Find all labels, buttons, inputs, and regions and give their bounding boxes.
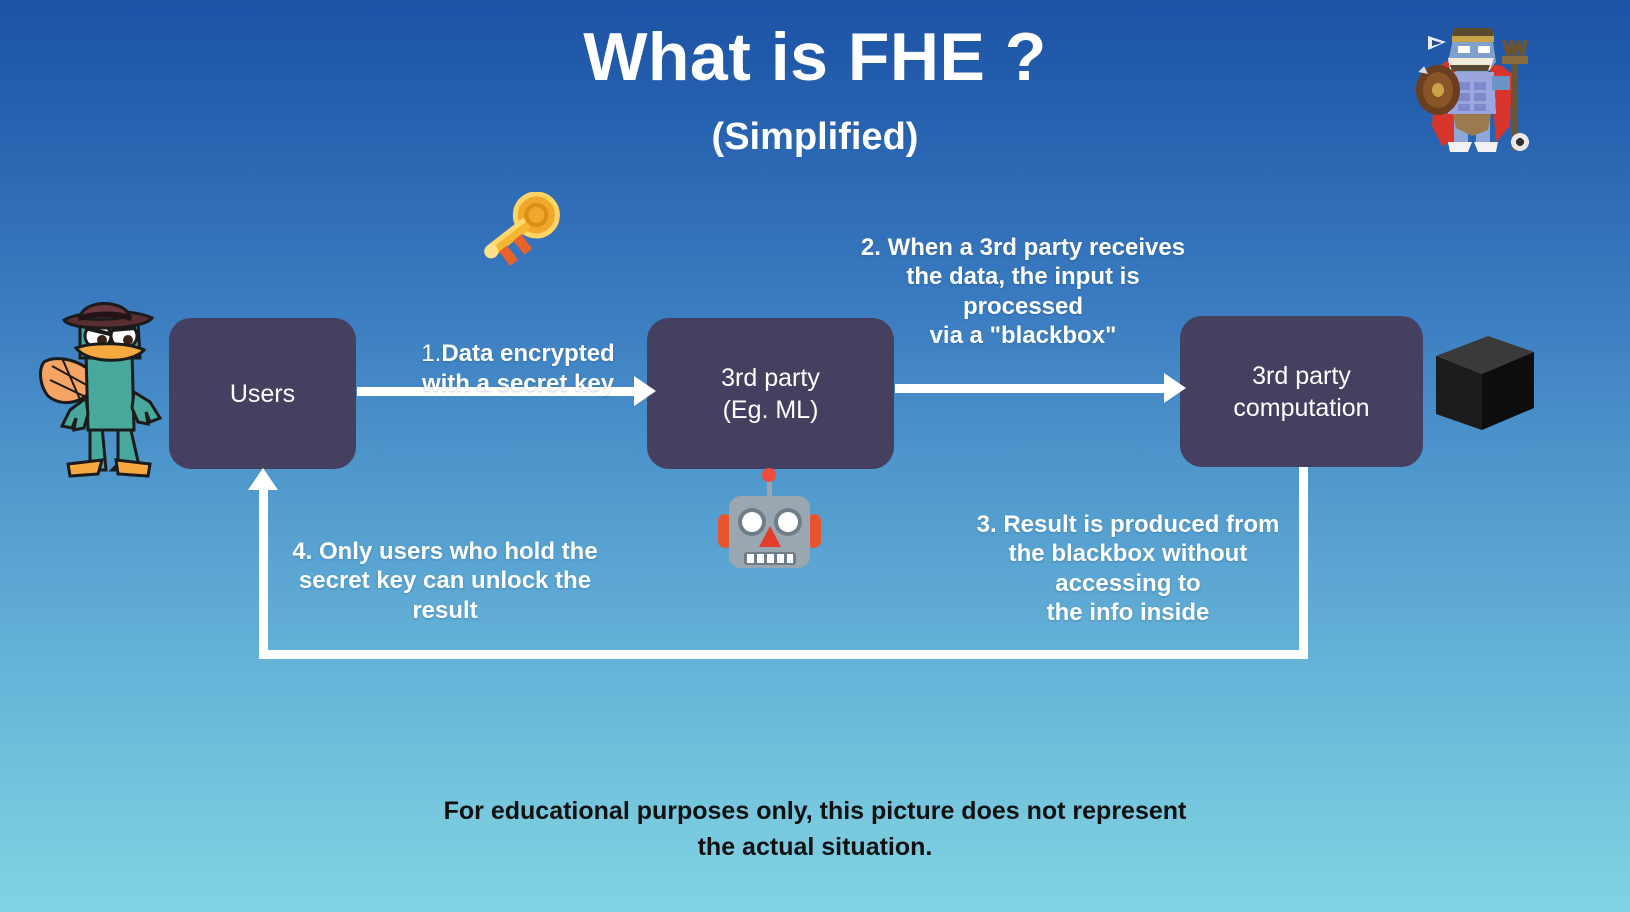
- slide-canvas: What is FHE ? (Simplified): [0, 0, 1630, 912]
- step-1-ordinal: 1.: [421, 340, 441, 367]
- arrow-third-party-to-computation-line: [895, 384, 1170, 393]
- step-1-text: Data encrypted with a secret key: [422, 340, 615, 396]
- step-4-label: 4. Only users who hold the secret key ca…: [275, 537, 615, 625]
- black-cube-icon: [1430, 330, 1538, 438]
- return-path-horizontal: [259, 650, 1308, 659]
- page-title: What is FHE ?: [0, 22, 1630, 93]
- page-subtitle: (Simplified): [0, 116, 1630, 159]
- step-3-label: 3. Result is produced from the blackbox …: [948, 510, 1308, 627]
- arrow-up-icon: [248, 468, 278, 490]
- arrow-right-icon: [1164, 373, 1186, 403]
- key-icon: [478, 192, 588, 304]
- footer-disclaimer: For educational purposes only, this pict…: [0, 793, 1630, 866]
- node-box-third-party-computation[interactable]: 3rd party computation: [1180, 316, 1423, 467]
- step-2-label: 2. When a 3rd party receives the data, t…: [843, 233, 1203, 350]
- warrior-mascot-icon: [1398, 18, 1544, 166]
- return-path-vertical-left: [259, 487, 268, 655]
- step-1-label: 1.Data encrypted with a secret key: [383, 310, 653, 398]
- node-box-users[interactable]: Users: [169, 318, 356, 469]
- platypus-mascot-icon: [36, 288, 176, 480]
- robot-icon: [712, 468, 828, 578]
